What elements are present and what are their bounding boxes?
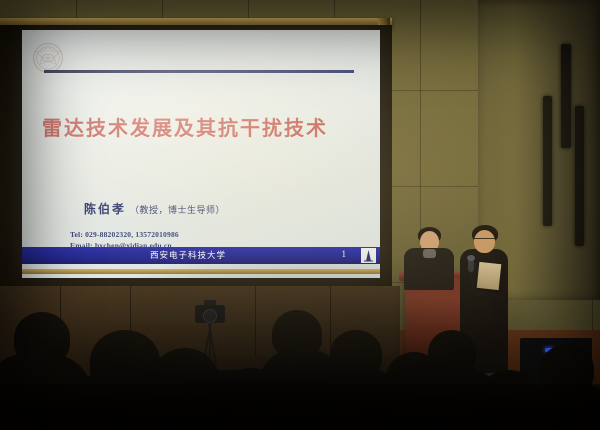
scene-lighting — [0, 0, 600, 430]
lecture-hall-photo: 雷达技术发展及其抗干扰技术 陈伯孝（教授，博士生导师） Tel: 029-882… — [0, 0, 600, 430]
